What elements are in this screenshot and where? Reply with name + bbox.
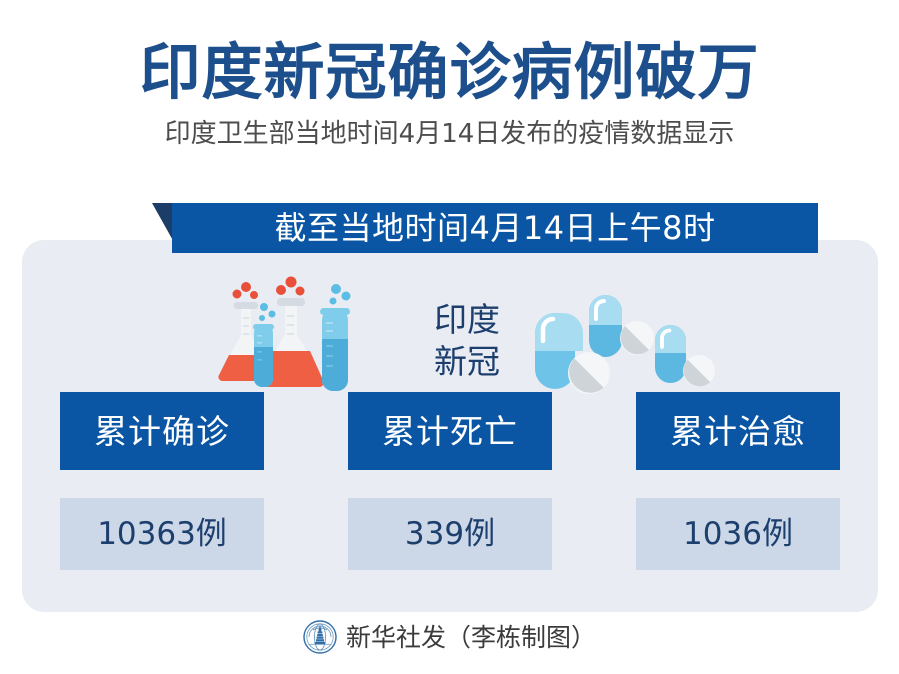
stat-column-confirmed: 累计确诊 10363例 bbox=[60, 392, 264, 570]
stat-label-deaths: 累计死亡 bbox=[382, 415, 518, 448]
stat-label-confirmed: 累计确诊 bbox=[94, 415, 230, 448]
stat-value-confirmed: 10363例 bbox=[97, 519, 227, 550]
footer-credit-text: 新华社发（李栋制图） bbox=[346, 625, 596, 650]
stat-value-box-deaths: 339例 bbox=[348, 498, 552, 570]
stat-value-deaths: 339例 bbox=[405, 519, 495, 550]
stat-value-recovered: 1036例 bbox=[683, 519, 793, 550]
banner-body: 截至当地时间4月14日上午8时 bbox=[172, 203, 818, 253]
stat-header-confirmed: 累计确诊 bbox=[60, 392, 264, 470]
center-label-line-2: 新冠 bbox=[407, 341, 527, 383]
stat-label-recovered: 累计治愈 bbox=[670, 415, 806, 448]
page-title: 印度新冠确诊病例破万 bbox=[0, 0, 899, 106]
stat-column-deaths: 累计死亡 339例 bbox=[348, 392, 552, 570]
stats-card: 印度 新冠 bbox=[22, 240, 878, 612]
lab-flask-icon bbox=[202, 275, 372, 405]
stat-value-box-recovered: 1036例 bbox=[636, 498, 840, 570]
center-label-line-1: 印度 bbox=[407, 299, 527, 341]
stat-column-recovered: 累计治愈 1036例 bbox=[636, 392, 840, 570]
page-subtitle: 印度卫生部当地时间4月14日发布的疫情数据显示 bbox=[0, 106, 899, 149]
stat-header-deaths: 累计死亡 bbox=[348, 392, 552, 470]
illustration-center-label: 印度 新冠 bbox=[407, 299, 527, 383]
xinhua-logo-icon bbox=[303, 620, 337, 654]
footer-credit: 新华社发（李栋制图） bbox=[0, 620, 899, 654]
page-header: 印度新冠确诊病例破万 印度卫生部当地时间4月14日发布的疫情数据显示 bbox=[0, 0, 899, 148]
pills-icon bbox=[527, 291, 717, 401]
stats-row: 累计确诊 10363例 累计死亡 339例 累计治愈 1036例 bbox=[60, 392, 840, 570]
banner-text: 截至当地时间4月14日上午8时 bbox=[275, 212, 716, 244]
stat-header-recovered: 累计治愈 bbox=[636, 392, 840, 470]
stat-value-box-confirmed: 10363例 bbox=[60, 498, 264, 570]
date-banner: 截至当地时间4月14日上午8时 bbox=[152, 203, 842, 263]
